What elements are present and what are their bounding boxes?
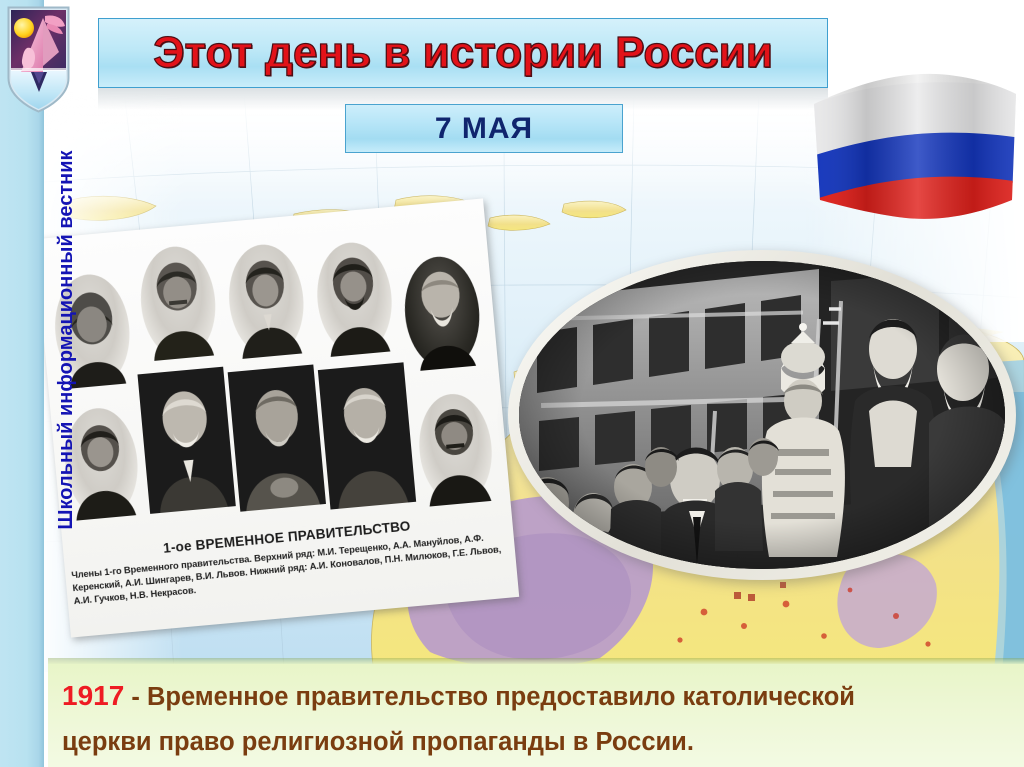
slide-canvas: Земля Франца-Иосифа НОВОСИБИРСКИЕ о-ва В… xyxy=(0,0,1024,767)
portrait-10: Мин. Пут. С. Некрасов xyxy=(415,391,497,507)
portrait-5: Об. Пр. Св. Син. Вл. Львов xyxy=(400,253,484,371)
portrait-2: М. Нар. Пр. Мануилов xyxy=(136,243,220,361)
date-badge-text: 7 МАЯ xyxy=(435,112,533,146)
caption-line-1: 1917 - Временное правительство предостав… xyxy=(62,673,1010,720)
portrait-caption: Мин. Зем. Шингарев xyxy=(323,357,396,358)
portrait-grid: Мин. Фин. Терещенко М. Нар. Пр. Мануилов xyxy=(44,213,502,541)
portrait-3: Мин. Юст. Керенский xyxy=(224,241,308,359)
caption-year: 1917 xyxy=(62,680,124,711)
oval-photo-image xyxy=(519,261,1005,569)
event-caption: 1917 - Временное правительство предостав… xyxy=(48,664,1024,767)
portrait-caption: М. Нар. Пр. Мануилов xyxy=(147,361,220,362)
portrait-caption: Об. Пр. Св. Син. Вл. Львов xyxy=(411,371,484,372)
portrait-4: Мин. Зем. Шингарев xyxy=(313,239,397,357)
newspaper-clipping: Мин. Фин. Терещенко М. Нар. Пр. Мануилов xyxy=(35,198,519,637)
caption-line-1-rest: - Временное правительство предоставило к… xyxy=(124,683,855,711)
page-title-text: Этот день в истории России xyxy=(153,28,773,78)
date-badge: 7 МАЯ xyxy=(345,104,623,153)
portrait-8: Пр. Сов. Мин. Кн. Г.Е. Львов xyxy=(228,364,326,511)
historic-photo-clergy-procession xyxy=(508,250,1016,580)
caption-line-2: церкви право религиозной пропаганды в Ро… xyxy=(62,720,1010,765)
portrait-7: Мин. Ин. Д. Милюков xyxy=(137,367,235,514)
russian-flag xyxy=(806,62,1021,237)
school-crest-logo[interactable] xyxy=(7,6,70,113)
sidebar: Школьный информационный вестник xyxy=(0,0,44,767)
sidebar-title: Школьный информационный вестник xyxy=(44,20,88,660)
date-badge-reflection: 7 МАЯ xyxy=(345,153,623,173)
portrait-9: Воен. Мин. Гучков xyxy=(318,362,416,509)
portrait-caption: Мин. Юст. Керенский xyxy=(235,359,308,360)
page-title: Этот день в истории России xyxy=(98,18,828,88)
